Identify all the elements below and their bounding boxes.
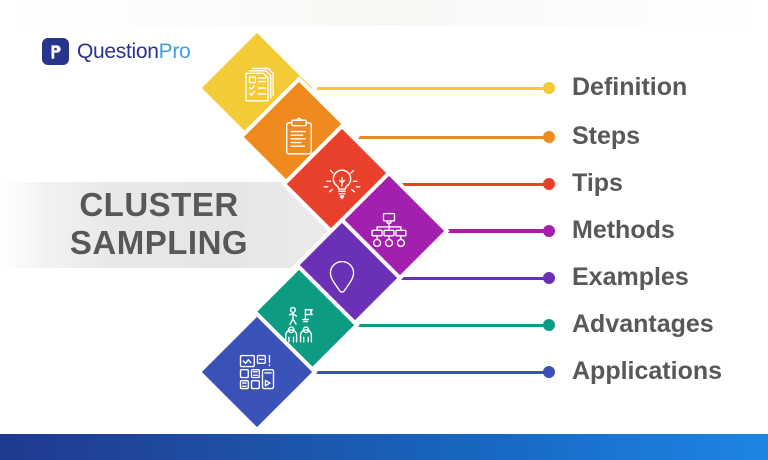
app-grid-icon	[235, 350, 279, 394]
people-flag-icon	[277, 303, 321, 347]
connector-dot-steps	[543, 131, 555, 143]
connector-line-methods	[428, 229, 549, 233]
location-pin-icon	[320, 256, 364, 300]
connector-line-tips	[381, 183, 549, 186]
item-label-methods[interactable]: Methods	[572, 218, 675, 243]
connector-dot-definition	[543, 82, 555, 94]
connector-line-examples	[381, 277, 549, 280]
connector-dot-methods	[543, 225, 555, 237]
connector-line-definition	[296, 87, 549, 90]
connector-dot-examples	[543, 272, 555, 284]
title-line-1: CLUSTER	[0, 186, 318, 224]
item-label-examples[interactable]: Examples	[572, 265, 689, 290]
questionpro-logo-mark-icon	[42, 38, 69, 65]
questionpro-wordmark: QuestionPro	[77, 41, 190, 62]
connector-line-applications	[296, 371, 549, 374]
questionpro-logo: QuestionPro	[42, 38, 190, 65]
top-background-wash	[0, 0, 768, 26]
title-line-2: SAMPLING	[0, 224, 318, 262]
cluster-sampling-infographic: QuestionPro CLUSTER SAMPLING DefinitionS…	[0, 0, 768, 460]
logo-text-question: Question	[77, 40, 159, 63]
item-label-definition[interactable]: Definition	[572, 75, 687, 100]
documents-checklist-icon	[235, 66, 279, 110]
connector-dot-tips	[543, 178, 555, 190]
item-label-applications[interactable]: Applications	[572, 359, 722, 384]
logo-text-pro: Pro	[159, 40, 191, 63]
connector-dot-applications	[543, 366, 555, 378]
footer-bar	[0, 434, 768, 460]
connector-line-advantages	[338, 324, 549, 327]
connector-dot-advantages	[543, 319, 555, 331]
hierarchy-network-icon	[367, 209, 411, 253]
connector-line-steps	[338, 136, 549, 139]
page-title: CLUSTER SAMPLING	[0, 186, 318, 263]
item-label-steps[interactable]: Steps	[572, 124, 640, 149]
clipboard-icon	[277, 115, 321, 159]
item-label-advantages[interactable]: Advantages	[572, 312, 714, 337]
item-label-tips[interactable]: Tips	[572, 171, 623, 196]
lightbulb-icon	[320, 162, 364, 206]
